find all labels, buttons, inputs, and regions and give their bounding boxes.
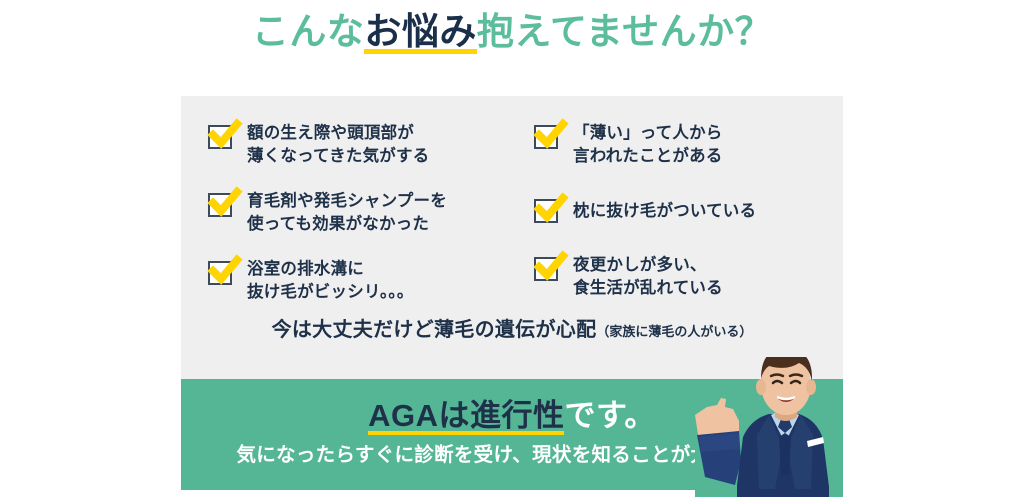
title-highlight: お悩み	[364, 11, 477, 54]
list-item[interactable]: 夜更かしが多い、 食生活が乱れている	[534, 254, 843, 300]
note-main-text: 今は大丈夫だけど薄毛の遺伝が心配	[272, 319, 597, 341]
genetic-concern-note: 今は大丈夫だけど薄毛の遺伝が心配（家族に薄毛の人がいる）	[181, 313, 843, 342]
title-part-3: 抱えてませんか？	[477, 11, 772, 52]
list-item-label: 「薄い」って人から 言われたことがある	[573, 122, 722, 168]
page-root: こんなお悩み抱えてませんか？ 額の生え際や頭頂部が 薄くなってきた気がする	[0, 0, 1024, 497]
checkbox-checked-icon[interactable]	[534, 199, 558, 223]
checklist-column-left: 額の生え際や頭頂部が 薄くなってきた気がする 育毛剤や発毛シャンプーを 使っても…	[181, 122, 512, 326]
checkbox-checked-icon[interactable]	[208, 193, 232, 217]
list-item-label: 育毛剤や発毛シャンプーを 使っても効果がなかった	[247, 190, 447, 236]
list-item[interactable]: 浴室の排水溝に 抜け毛がビッシリ。。。	[208, 258, 512, 304]
checkbox-checked-icon[interactable]	[208, 125, 232, 149]
list-item[interactable]: 「薄い」って人から 言われたことがある	[534, 122, 843, 168]
page-title: こんなお悩み抱えてませんか？	[0, 9, 1024, 55]
list-item-label: 額の生え際や頭頂部が 薄くなってきた気がする	[247, 122, 429, 168]
banner-highlight-text: AGAは進行性	[368, 398, 564, 435]
checkbox-checked-icon[interactable]	[534, 125, 558, 149]
list-item-label: 浴室の排水溝に 抜け毛がビッシリ。。。	[247, 258, 414, 304]
concerns-card: 額の生え際や頭頂部が 薄くなってきた気がする 育毛剤や発毛シャンプーを 使っても…	[181, 96, 843, 379]
list-item-label: 枕に抜け毛がついている	[573, 200, 756, 223]
title-part-1: こんな	[252, 11, 365, 52]
note-sub-text: （家族に薄毛の人がいる）	[596, 324, 752, 339]
list-item[interactable]: 育毛剤や発毛シャンプーを 使っても効果がなかった	[208, 190, 512, 236]
presenter-photo	[695, 357, 843, 497]
list-item[interactable]: 枕に抜け毛がついている	[534, 190, 843, 232]
checkbox-checked-icon[interactable]	[534, 257, 558, 281]
checklist: 額の生え際や頭頂部が 薄くなってきた気がする 育毛剤や発毛シャンプーを 使っても…	[181, 122, 843, 326]
banner-headline-rest: です。	[564, 398, 655, 433]
checklist-column-right: 「薄い」って人から 言われたことがある 枕に抜け毛がついている	[512, 122, 843, 326]
checkbox-checked-icon[interactable]	[208, 261, 232, 285]
list-item-label: 夜更かしが多い、 食生活が乱れている	[573, 254, 723, 300]
list-item[interactable]: 額の生え際や頭頂部が 薄くなってきた気がする	[208, 122, 512, 168]
